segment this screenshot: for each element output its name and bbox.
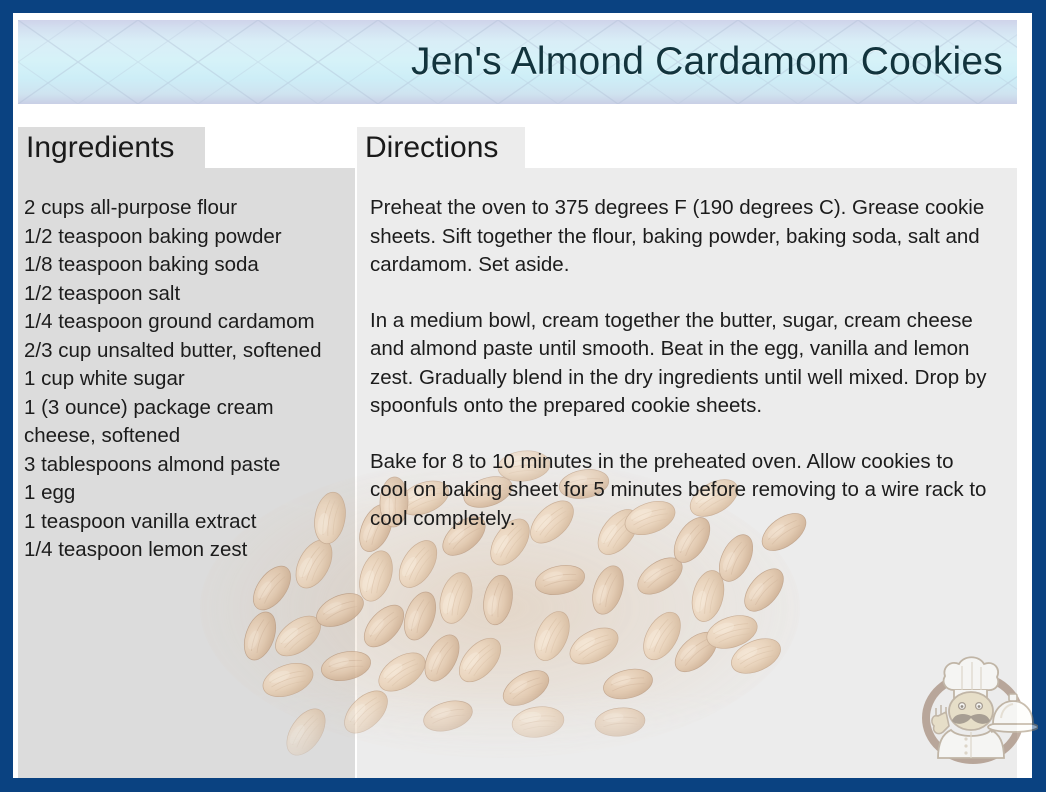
ingredient-item: 1 (3 ounce) package cream cheese, soften… bbox=[24, 394, 345, 451]
ingredient-item: 2 cups all-purpose flour bbox=[24, 194, 345, 223]
ingredient-item: 1 egg bbox=[24, 479, 345, 508]
ingredients-list: 2 cups all-purpose flour1/2 teaspoon bak… bbox=[18, 168, 355, 565]
ingredient-item: 1/2 teaspoon baking powder bbox=[24, 223, 345, 252]
ingredient-item: 1 cup white sugar bbox=[24, 365, 345, 394]
ingredient-item: 3 tablespoons almond paste bbox=[24, 451, 345, 480]
chef-logo-icon bbox=[916, 646, 1038, 774]
ingredients-panel: 2 cups all-purpose flour1/2 teaspoon bak… bbox=[18, 168, 355, 778]
page-title: Jen's Almond Cardamom Cookies bbox=[411, 40, 1003, 84]
frame-border-bottom bbox=[0, 778, 1046, 792]
frame-border-top bbox=[0, 0, 1046, 13]
recipe-card: Jen's Almond Cardamom Cookies Ingredient… bbox=[0, 0, 1046, 792]
direction-paragraph: Bake for 8 to 10 minutes in the preheate… bbox=[370, 448, 991, 534]
title-banner: Jen's Almond Cardamom Cookies bbox=[18, 20, 1017, 104]
section-header-ingredients: Ingredients bbox=[18, 127, 205, 169]
ingredient-item: 1/4 teaspoon lemon zest bbox=[24, 536, 345, 565]
direction-paragraph: In a medium bowl, cream together the but… bbox=[370, 307, 991, 421]
section-header-directions: Directions bbox=[357, 127, 525, 169]
ingredient-item: 2/3 cup unsalted butter, softened bbox=[24, 337, 345, 366]
ingredient-item: 1/8 teaspoon baking soda bbox=[24, 251, 345, 280]
frame-border-left bbox=[0, 0, 13, 792]
directions-text: Preheat the oven to 375 degrees F (190 d… bbox=[357, 168, 1017, 533]
ingredient-item: 1 teaspoon vanilla extract bbox=[24, 508, 345, 537]
ingredient-item: 1/4 teaspoon ground cardamom bbox=[24, 308, 345, 337]
ingredient-item: 1/2 teaspoon salt bbox=[24, 280, 345, 309]
direction-paragraph: Preheat the oven to 375 degrees F (190 d… bbox=[370, 194, 991, 280]
